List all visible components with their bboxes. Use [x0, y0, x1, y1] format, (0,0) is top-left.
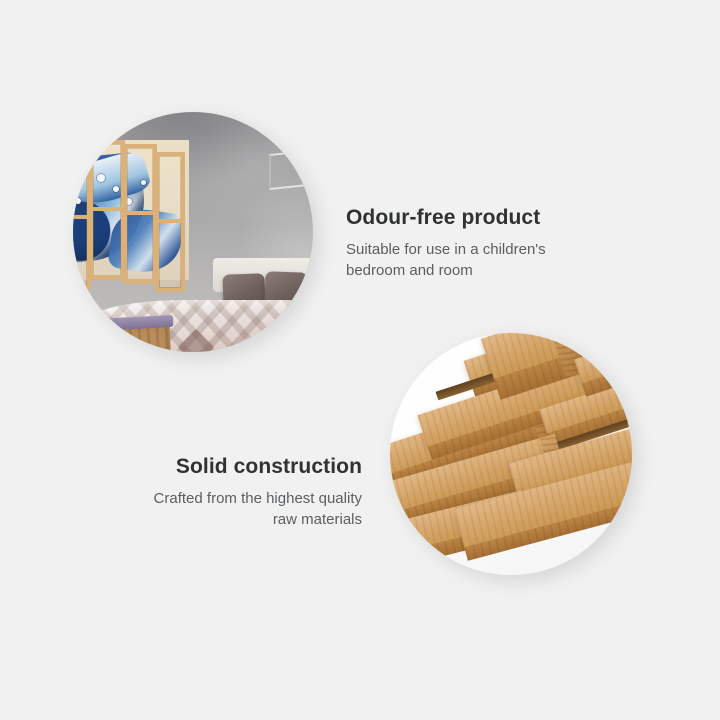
bedroom-with-folding-screen-photo: [73, 112, 313, 352]
wicker-basket: [95, 324, 172, 352]
stacked-wooden-beams-photo: [390, 333, 632, 575]
wood-block: [481, 333, 561, 381]
feature-odour-free-text: Odour-free product Suitable for use in a…: [346, 206, 596, 281]
bed: [93, 264, 313, 352]
description-line-2: raw materials: [273, 511, 362, 528]
feature-solid-construction-heading: Solid construction: [112, 455, 362, 479]
screen-panel-frame: [123, 144, 157, 284]
bedroom-scene: [73, 112, 313, 352]
quilt-patch: [178, 329, 215, 352]
description-line-2: bedroom and room: [346, 262, 473, 279]
screen-panel-frame: [89, 140, 125, 280]
description-line-1: Suitable for use in a children's: [346, 241, 546, 258]
wood-scene: [390, 333, 632, 575]
description-line-1: Crafted from the highest quality: [154, 490, 362, 507]
wall-frame-decor: [269, 150, 309, 190]
feature-solid-construction-description: Crafted from the highest quality raw mat…: [112, 488, 362, 531]
folding-screen-frames-overlay: [73, 138, 189, 278]
feature-collage: Odour-free product Suitable for use in a…: [0, 0, 720, 720]
quilt-patch: [232, 347, 266, 352]
feature-solid-construction-text: Solid construction Crafted from the high…: [112, 455, 362, 530]
quilt-patch: [278, 325, 309, 352]
feature-odour-free-description: Suitable for use in a children's bedroom…: [346, 239, 596, 282]
feature-odour-free-heading: Odour-free product: [346, 206, 596, 230]
